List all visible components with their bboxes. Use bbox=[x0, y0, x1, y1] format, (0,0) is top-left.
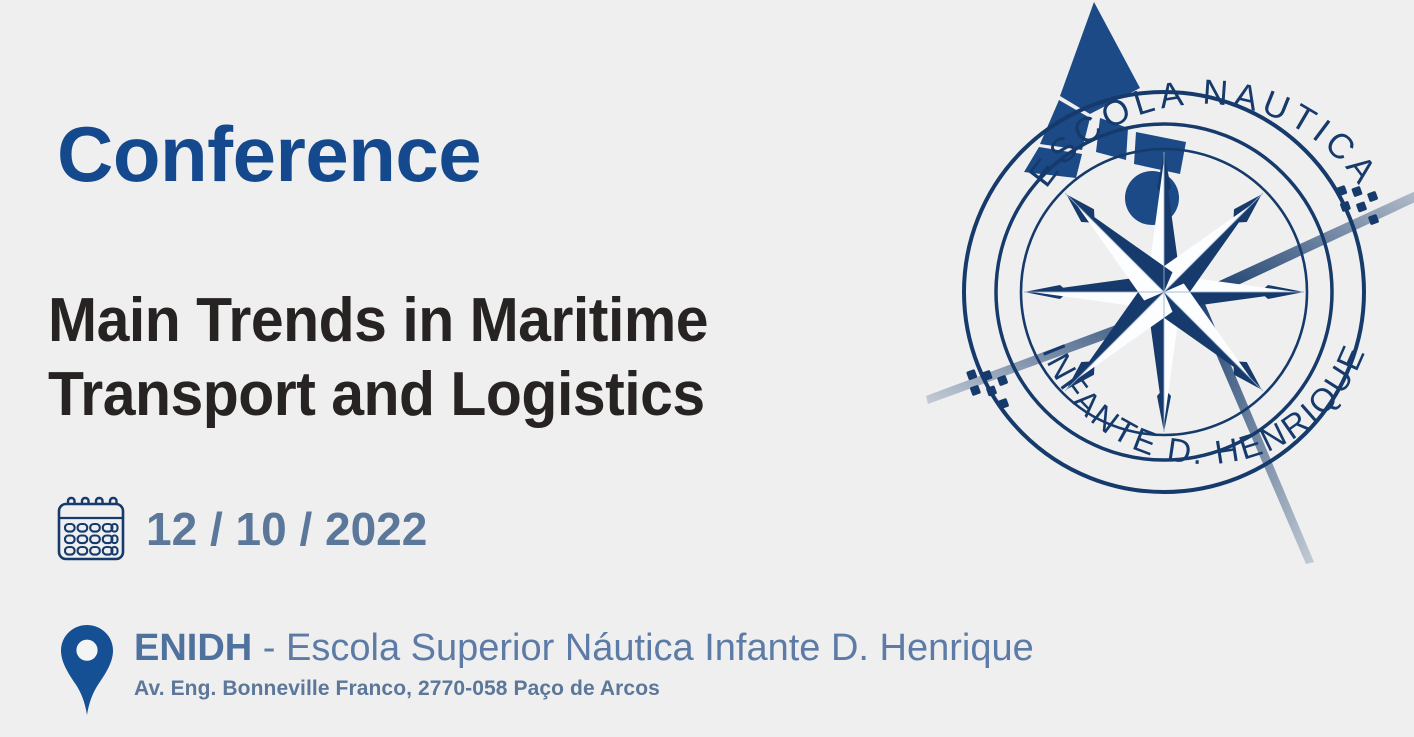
compass-star bbox=[1024, 152, 1304, 432]
svg-text:INFANTE D. HENRIQUE: INFANTE D. HENRIQUE bbox=[1035, 338, 1372, 471]
venue-line: ENIDH - Escola Superior Náutica Infante … bbox=[134, 626, 1034, 670]
event-date-text: 12 / 10 / 2022 bbox=[146, 503, 427, 555]
calendar-icon bbox=[52, 496, 130, 562]
page-eyebrow: Conference bbox=[57, 106, 481, 202]
compass-rose-svg: ESCOLA NAUTICA INFANTE D. HENRIQUE bbox=[904, 0, 1414, 572]
venue-name: Escola Superior Náutica Infante D. Henri… bbox=[286, 627, 1034, 669]
logo-text-bottom: INFANTE D. HENRIQUE bbox=[1035, 338, 1372, 471]
enidh-compass-rose-logo: ESCOLA NAUTICA INFANTE D. HENRIQUE bbox=[904, 0, 1414, 572]
page-title-line-2: Transport and Logistics bbox=[48, 358, 865, 432]
venue-acronym: ENIDH bbox=[134, 627, 252, 669]
event-location-row: ENIDH - Escola Superior Náutica Infante … bbox=[58, 618, 1034, 716]
venue-address: Av. Eng. Bonneville Franco, 2770-058 Paç… bbox=[134, 676, 1034, 702]
event-date-row: 12 / 10 / 2022 bbox=[52, 496, 427, 562]
venue-separator: - bbox=[252, 627, 286, 669]
poster-text-column: Conference Main Trends in Maritime Trans… bbox=[0, 0, 930, 737]
page-title: Main Trends in Maritime Transport and Lo… bbox=[48, 284, 865, 432]
event-location-text: ENIDH - Escola Superior Náutica Infante … bbox=[134, 618, 1034, 702]
page-title-line-1: Main Trends in Maritime bbox=[48, 284, 865, 358]
map-pin-icon bbox=[58, 624, 116, 716]
conference-poster: Conference Main Trends in Maritime Trans… bbox=[0, 0, 1414, 737]
